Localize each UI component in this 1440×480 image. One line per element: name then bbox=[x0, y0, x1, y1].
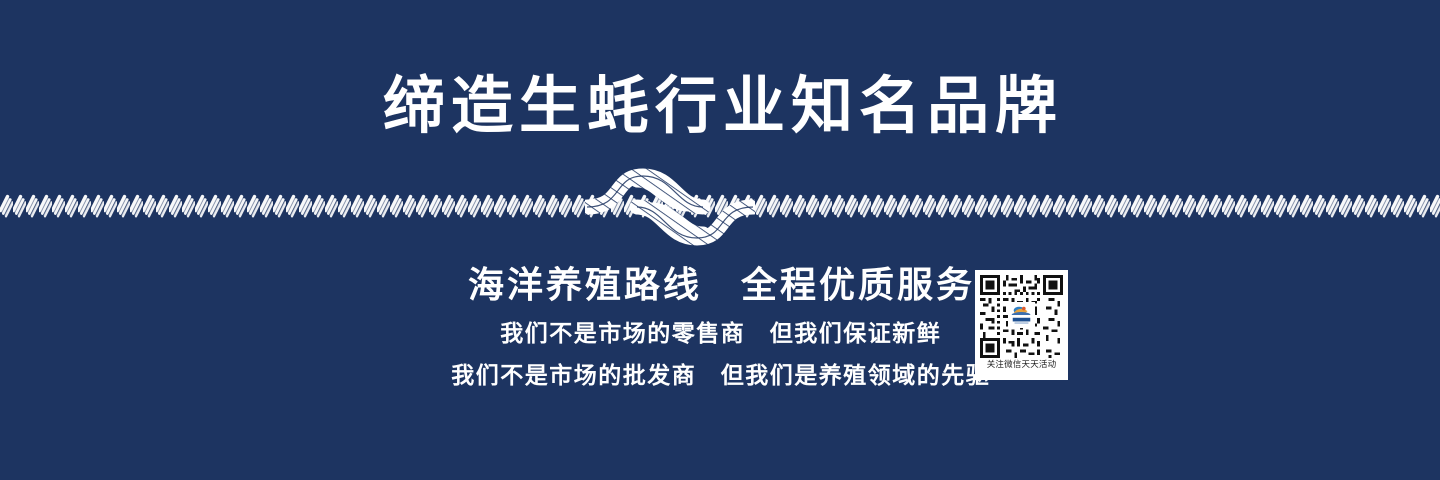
tagline-line-1: 我们不是市场的零售商 但我们保证新鲜 bbox=[0, 318, 1440, 350]
brand-logo-icon bbox=[1008, 302, 1035, 328]
qr-caption: 关注微信天天活动 bbox=[987, 359, 1057, 371]
wechat-qr-card[interactable]: 关注微信天天活动 bbox=[975, 270, 1068, 380]
qr-code-icon[interactable] bbox=[980, 275, 1063, 358]
tagline-line-2: 我们不是市场的批发商 但我们是养殖领域的先驱 bbox=[0, 360, 1440, 392]
page-title: 缔造生蚝行业知名品牌 bbox=[0, 66, 1440, 146]
promo-banner: 缔造生蚝行业知名品牌 bbox=[0, 0, 1440, 480]
subtitle: 海洋养殖路线 全程优质服务 bbox=[0, 262, 1440, 310]
rope-divider bbox=[0, 190, 1440, 224]
sailor-knot-icon bbox=[585, 158, 755, 256]
